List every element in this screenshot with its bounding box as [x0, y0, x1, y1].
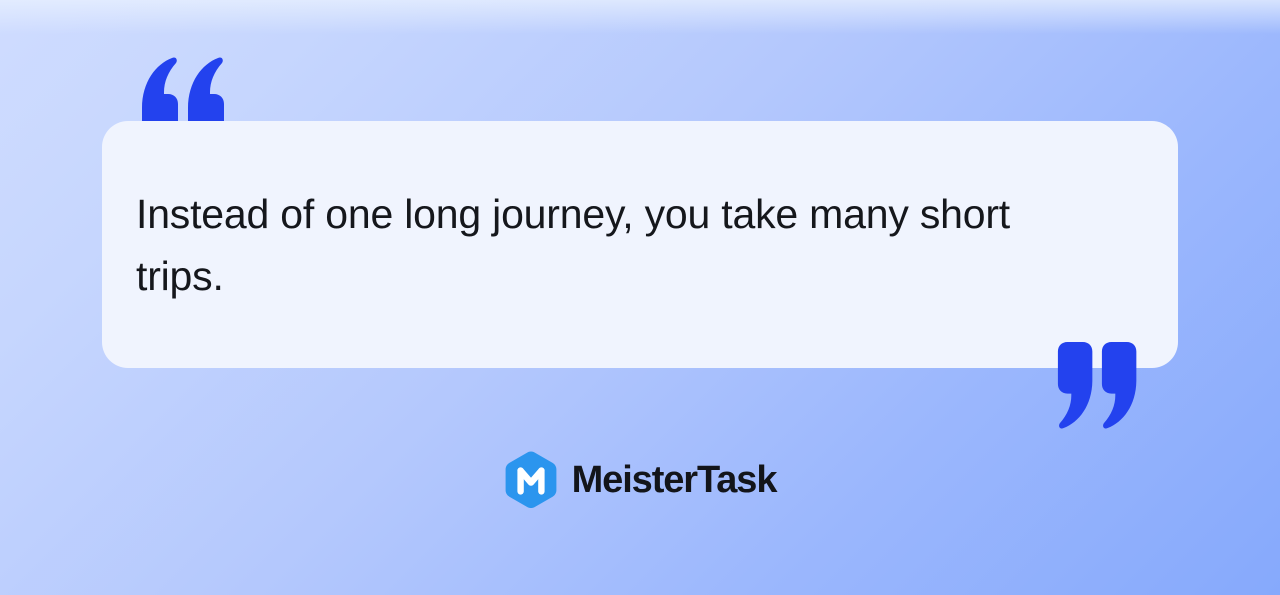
brand-wordmark: MeisterTask [572, 461, 777, 499]
quote-graphic-canvas: Instead of one long journey, you take ma… [0, 0, 1280, 595]
quote-text: Instead of one long journey, you take ma… [136, 183, 1066, 307]
brand-lockup: MeisterTask [0, 447, 1280, 513]
quote-close-icon [1056, 340, 1144, 430]
meistertask-hexagon-logo-icon [504, 451, 558, 509]
quote-card: Instead of one long journey, you take ma… [102, 121, 1178, 368]
